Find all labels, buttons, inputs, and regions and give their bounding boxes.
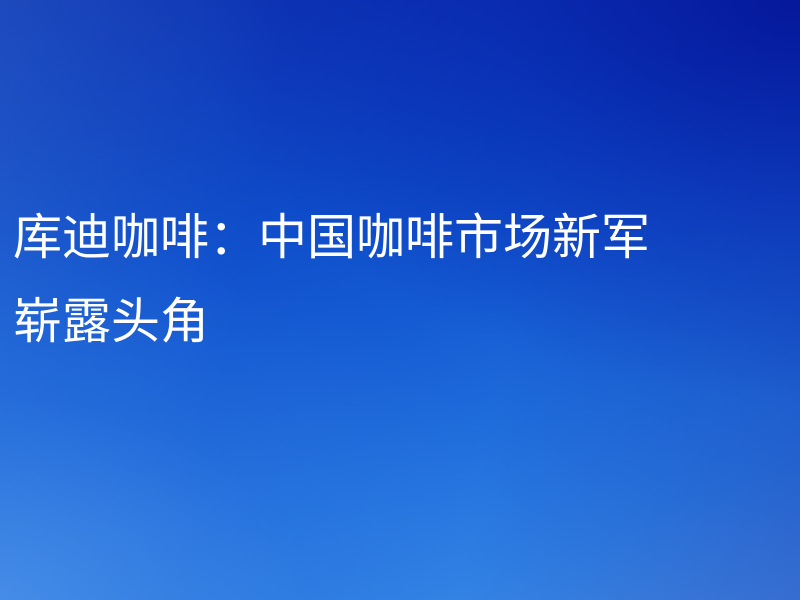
banner-headline: 库迪咖啡：中国咖啡市场新军 崭露头角	[13, 196, 800, 364]
headline-line-2: 崭露头角	[13, 280, 800, 364]
article-hero-banner: 库迪咖啡：中国咖啡市场新军 崭露头角	[0, 0, 800, 600]
headline-line-1: 库迪咖啡：中国咖啡市场新军	[13, 196, 800, 280]
